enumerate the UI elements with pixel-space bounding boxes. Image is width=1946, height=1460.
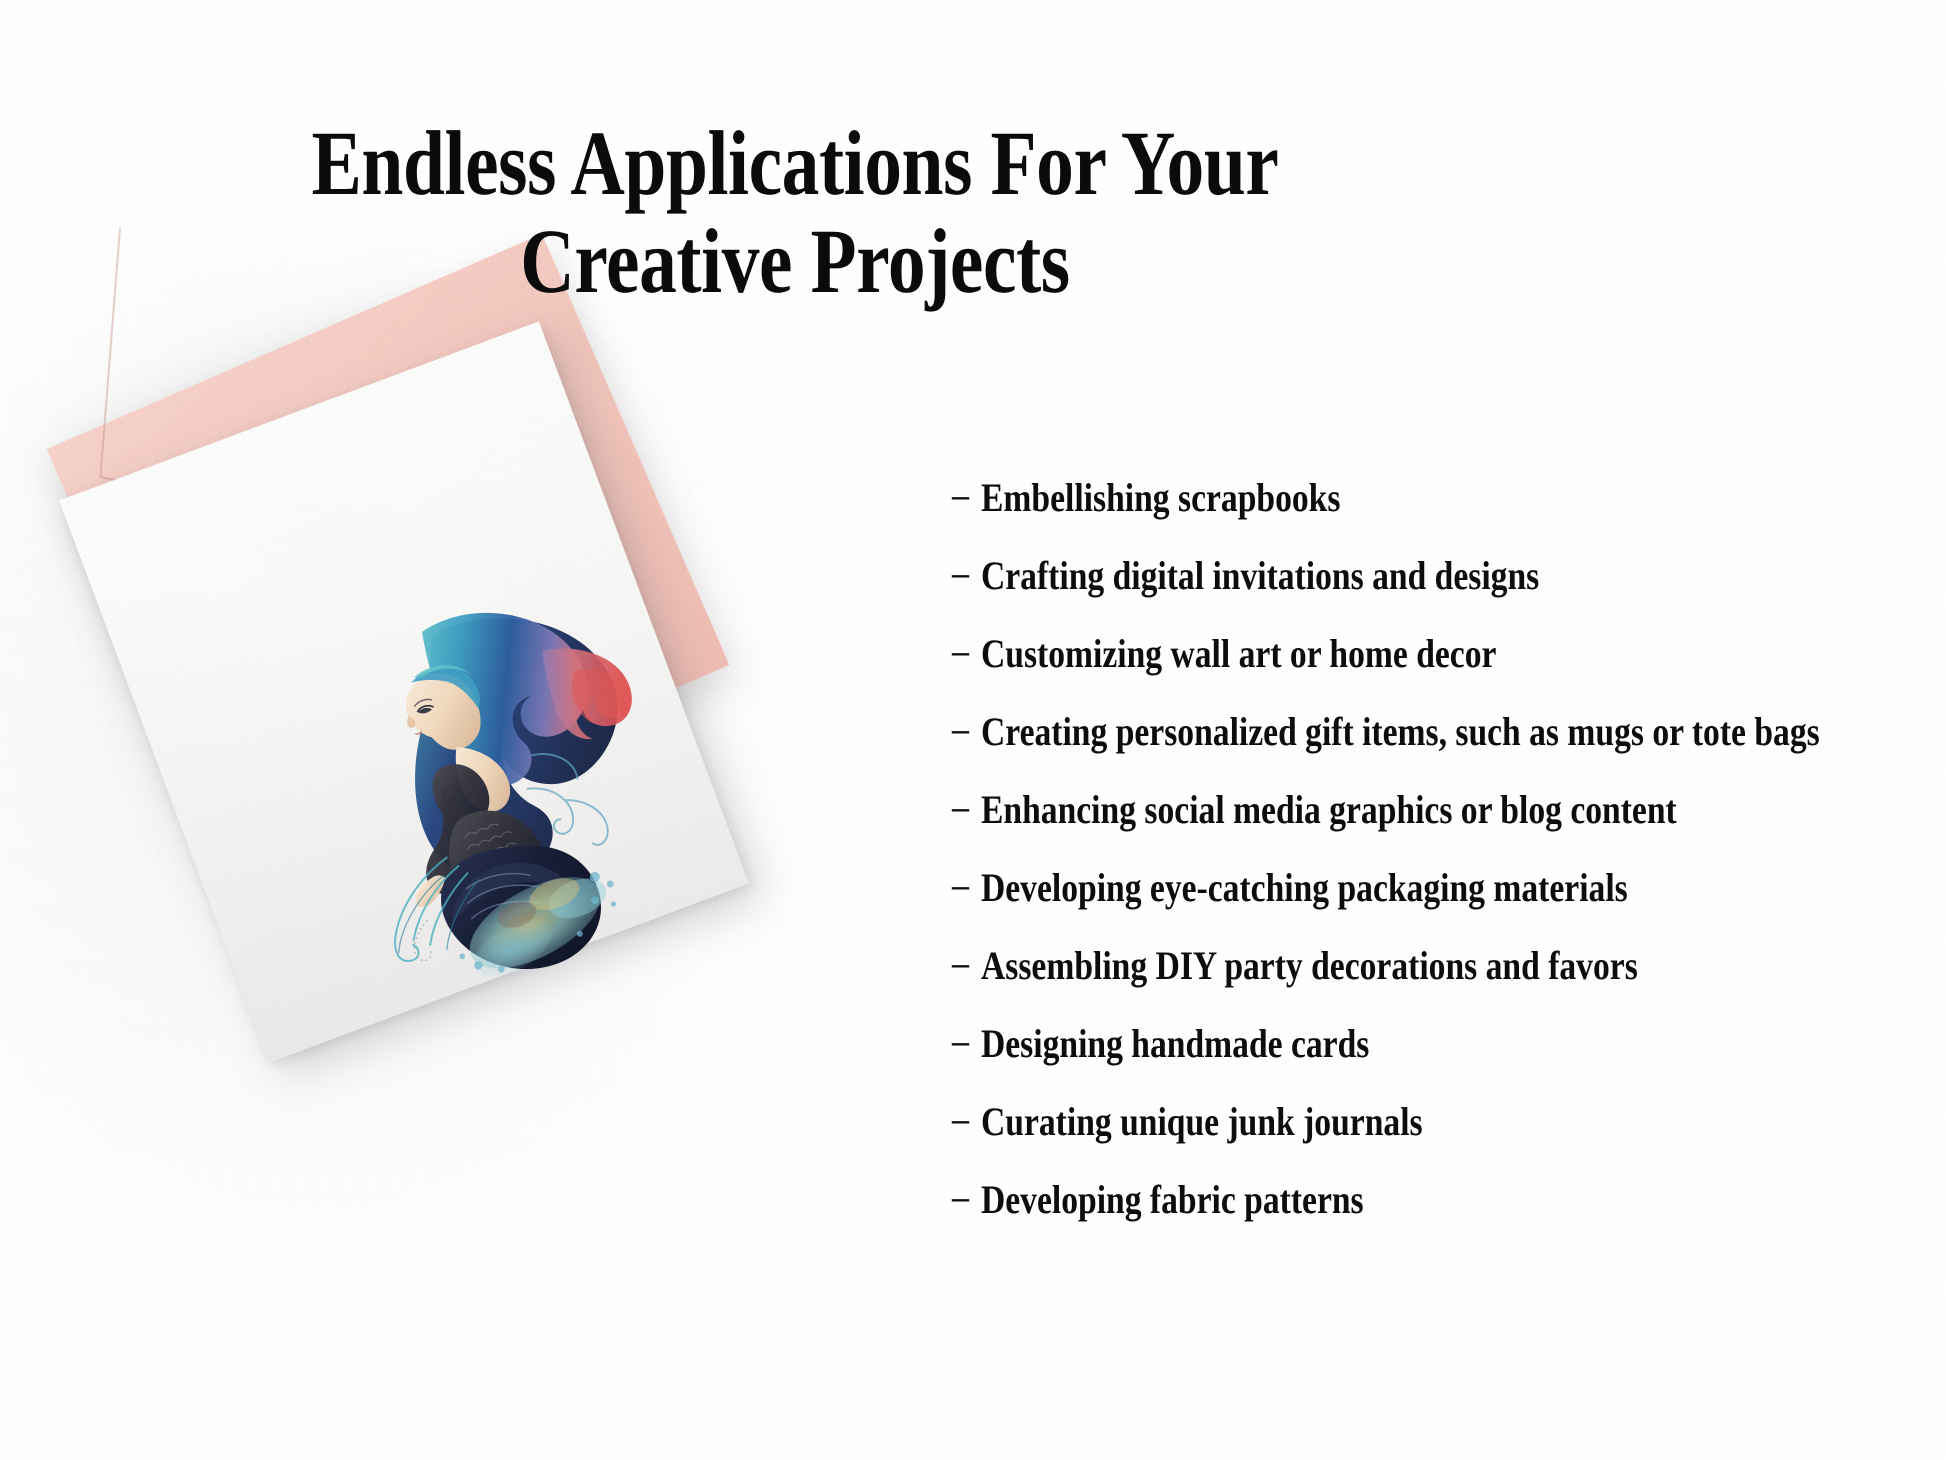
- list-item-label: Embellishing scrapbooks: [981, 478, 1340, 518]
- list-item-label: Enhancing social media graphics or blog …: [981, 790, 1677, 830]
- title-line-2: Creative Projects: [143, 216, 1447, 306]
- list-item-label: Creating personalized gift items, such a…: [981, 712, 1820, 752]
- list-item: – Customizing wall art or home decor: [952, 634, 1946, 676]
- bullet-dash-icon: –: [952, 1023, 969, 1061]
- list-item: – Developing fabric patterns: [952, 1180, 1946, 1222]
- list-item: – Enhancing social media graphics or blo…: [952, 790, 1946, 832]
- bullet-dash-icon: –: [952, 555, 969, 593]
- list-item-label: Developing fabric patterns: [981, 1180, 1364, 1220]
- list-item-label: Crafting digital invitations and designs: [981, 556, 1539, 596]
- list-item-label: Developing eye-catching packaging materi…: [981, 868, 1628, 908]
- bullet-dash-icon: –: [952, 633, 969, 671]
- applications-list: – Embellishing scrapbooks – Crafting dig…: [952, 478, 1946, 1222]
- title-line-1: Endless Applications For Your: [143, 118, 1447, 208]
- list-item: – Assembling DIY party decorations and f…: [952, 946, 1946, 988]
- page-title: Endless Applications For Your Creative P…: [0, 118, 1590, 306]
- bullet-dash-icon: –: [952, 789, 969, 827]
- bullet-dash-icon: –: [952, 711, 969, 749]
- card-mockup: [0, 210, 820, 1210]
- list-item: – Developing eye-catching packaging mate…: [952, 868, 1946, 910]
- poster-canvas: Endless Applications For Your Creative P…: [0, 0, 1946, 1460]
- list-item: – Crafting digital invitations and desig…: [952, 556, 1946, 598]
- list-item: – Curating unique junk journals: [952, 1102, 1946, 1144]
- list-item-label: Assembling DIY party decorations and fav…: [981, 946, 1638, 986]
- bullet-dash-icon: –: [952, 477, 969, 515]
- list-item-label: Designing handmade cards: [981, 1024, 1369, 1064]
- list-item: – Designing handmade cards: [952, 1024, 1946, 1066]
- bullet-dash-icon: –: [952, 1179, 969, 1217]
- bullet-dash-icon: –: [952, 867, 969, 905]
- bullet-dash-icon: –: [952, 1101, 969, 1139]
- list-item: – Embellishing scrapbooks: [952, 478, 1946, 520]
- list-item: – Creating personalized gift items, such…: [952, 712, 1946, 754]
- list-item-label: Customizing wall art or home decor: [981, 634, 1496, 674]
- bullet-dash-icon: –: [952, 945, 969, 983]
- list-item-label: Curating unique junk journals: [981, 1102, 1423, 1142]
